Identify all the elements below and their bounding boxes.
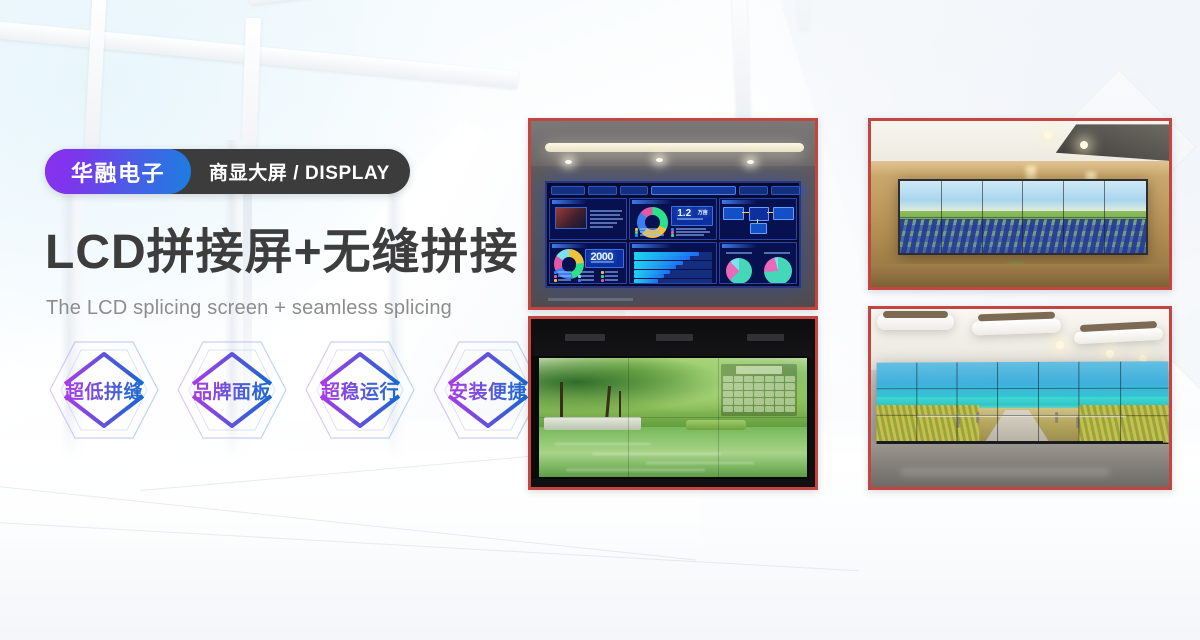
feature-item: 超稳运行 bbox=[301, 336, 419, 444]
page-subtitle: The LCD splicing screen + seamless splic… bbox=[46, 297, 452, 320]
ceiling-beam bbox=[83, 0, 106, 170]
video-wall-screen bbox=[898, 179, 1148, 255]
floor-seam bbox=[0, 520, 859, 571]
ceiling-beam bbox=[0, 18, 518, 89]
video-wall-screen bbox=[537, 356, 810, 479]
video-wall-screen: 1.2 万亩 bbox=[545, 181, 801, 289]
floor-seam bbox=[0, 480, 696, 560]
feature-label: 超低拼缝 bbox=[65, 377, 143, 404]
ceiling-beam bbox=[731, 0, 750, 120]
feature-item: 品牌面板 bbox=[173, 336, 291, 444]
video-wall-screen bbox=[876, 362, 1168, 447]
product-category-label: 商显大屏 / DISPLAY bbox=[191, 158, 390, 185]
page-title: LCD拼接屏+无缝拼接 bbox=[45, 229, 519, 277]
feature-label: 品牌面板 bbox=[193, 377, 271, 404]
gallery-photo-willow-lake-wall bbox=[528, 316, 818, 490]
brand-name-pill: 华融电子 bbox=[45, 149, 191, 194]
calendar-overlay bbox=[721, 364, 796, 416]
gallery-photo-control-room-dashboard: 1.2 万亩 bbox=[528, 118, 818, 310]
feature-label: 安装便捷 bbox=[449, 377, 527, 404]
feature-list: 超低拼缝 品牌面板 超稳运行 bbox=[45, 336, 547, 444]
brand-badge: 华融电子 商显大屏 / DISPLAY bbox=[45, 149, 410, 194]
ceiling-beam bbox=[249, 0, 767, 5]
product-photo-gallery: 1.2 万亩 bbox=[528, 118, 1172, 490]
ceiling-beam bbox=[796, 0, 810, 30]
product-banner: 华融电子 商显大屏 / DISPLAY LCD拼接屏+无缝拼接 The LCD … bbox=[0, 0, 1200, 640]
feature-label: 超稳运行 bbox=[321, 377, 399, 404]
gallery-photo-wood-room-solar-farm bbox=[868, 118, 1172, 290]
gallery-photo-beach-boardwalk-wall bbox=[868, 306, 1172, 490]
feature-item: 超低拼缝 bbox=[45, 336, 163, 444]
